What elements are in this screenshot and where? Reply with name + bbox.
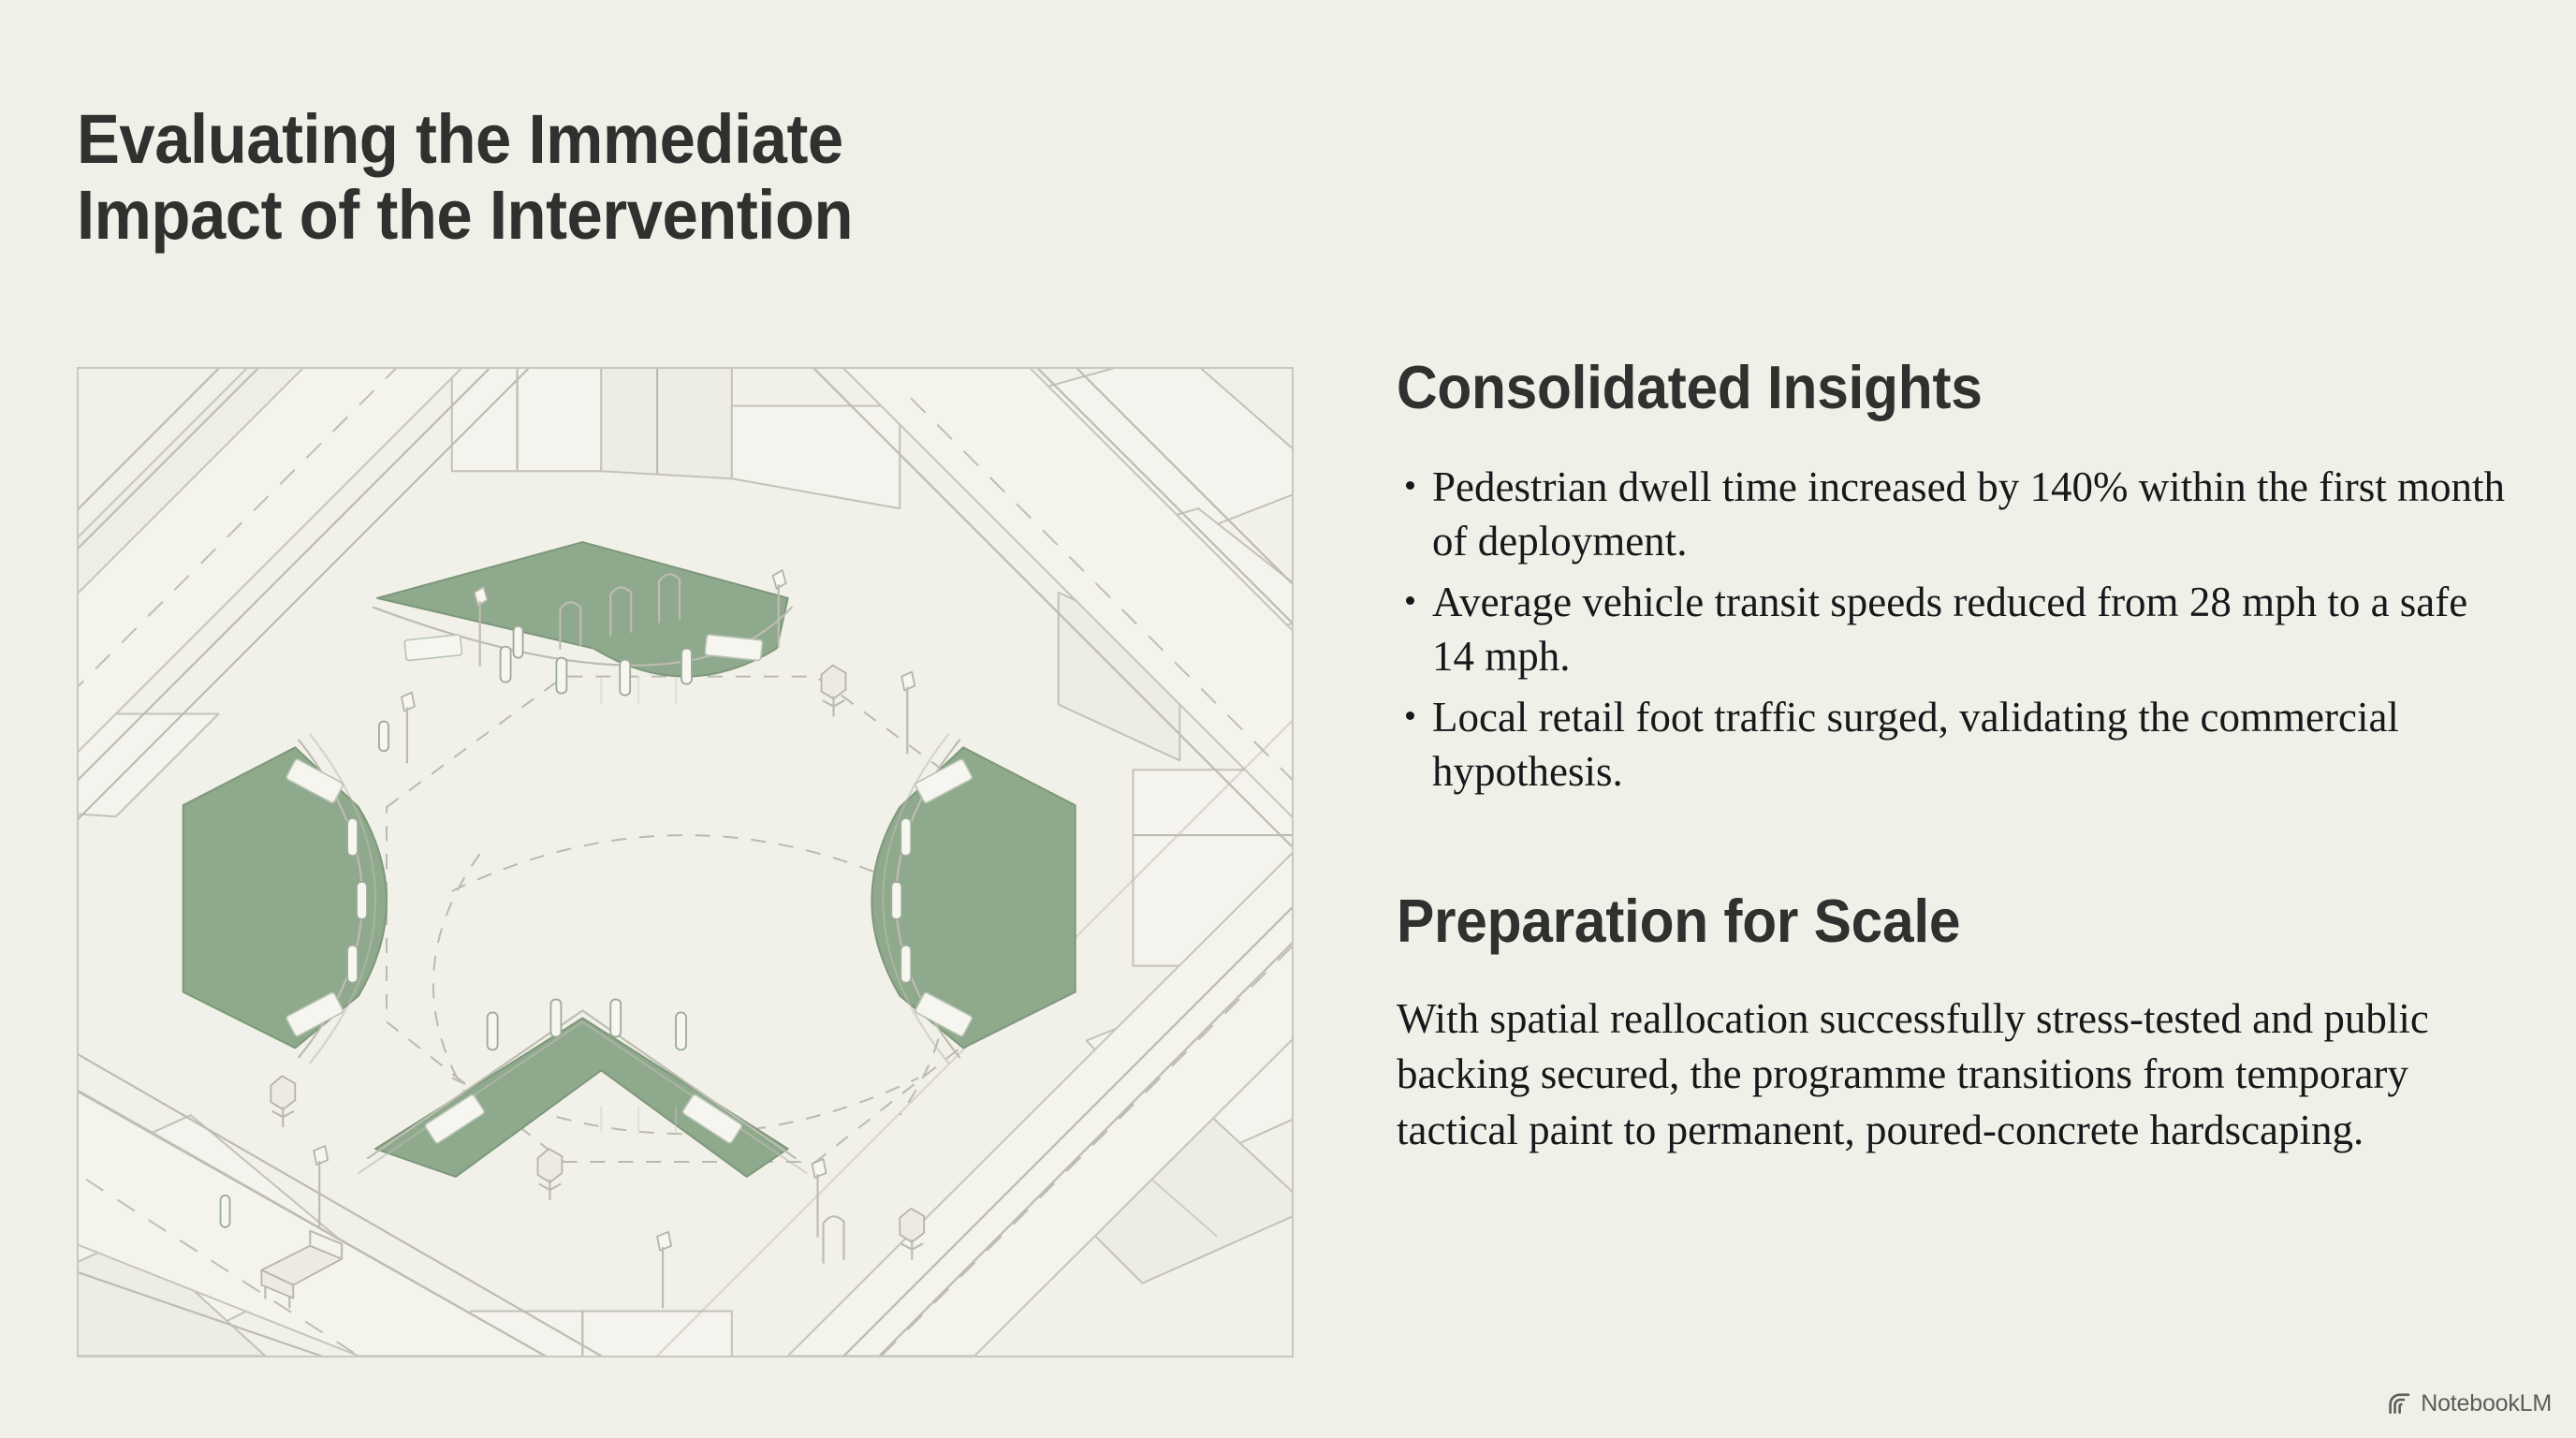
- notebooklm-label: NotebookLM: [2421, 1390, 2552, 1417]
- intersection-illustration: .ln { fill:none; stroke:#bdbcb1; stroke-…: [77, 367, 1294, 1357]
- bullet-dot-icon: [1406, 481, 1414, 490]
- bullet-text: Local retail foot traffic surged, valida…: [1432, 694, 2399, 796]
- bullet-text: Pedestrian dwell time increased by 140% …: [1432, 463, 2505, 565]
- notebooklm-spiral-icon: [2387, 1391, 2412, 1416]
- right-column: Consolidated Insights Pedestrian dwell t…: [1397, 356, 2510, 1158]
- bullet-text: Average vehicle transit speeds reduced f…: [1432, 579, 2467, 681]
- consolidated-insights-heading: Consolidated Insights: [1397, 356, 2433, 420]
- slide-title: Evaluating the Immediate Impact of the I…: [77, 101, 1243, 254]
- list-item: Pedestrian dwell time increased by 140% …: [1397, 460, 2510, 569]
- bullet-dot-icon: [1406, 712, 1414, 720]
- intersection-diagram-svg: .ln { fill:none; stroke:#bdbcb1; stroke-…: [79, 369, 1292, 1356]
- preparation-for-scale-heading: Preparation for Scale: [1397, 889, 2433, 954]
- bullet-dot-icon: [1406, 596, 1414, 605]
- slide-root: Evaluating the Immediate Impact of the I…: [0, 0, 2576, 1438]
- notebooklm-watermark: NotebookLM: [2387, 1390, 2552, 1417]
- list-item: Average vehicle transit speeds reduced f…: [1397, 575, 2510, 684]
- insights-bullet-list: Pedestrian dwell time increased by 140% …: [1397, 460, 2510, 800]
- list-item: Local retail foot traffic surged, valida…: [1397, 690, 2510, 800]
- preparation-for-scale-paragraph: With spatial reallocation successfully s…: [1397, 991, 2492, 1158]
